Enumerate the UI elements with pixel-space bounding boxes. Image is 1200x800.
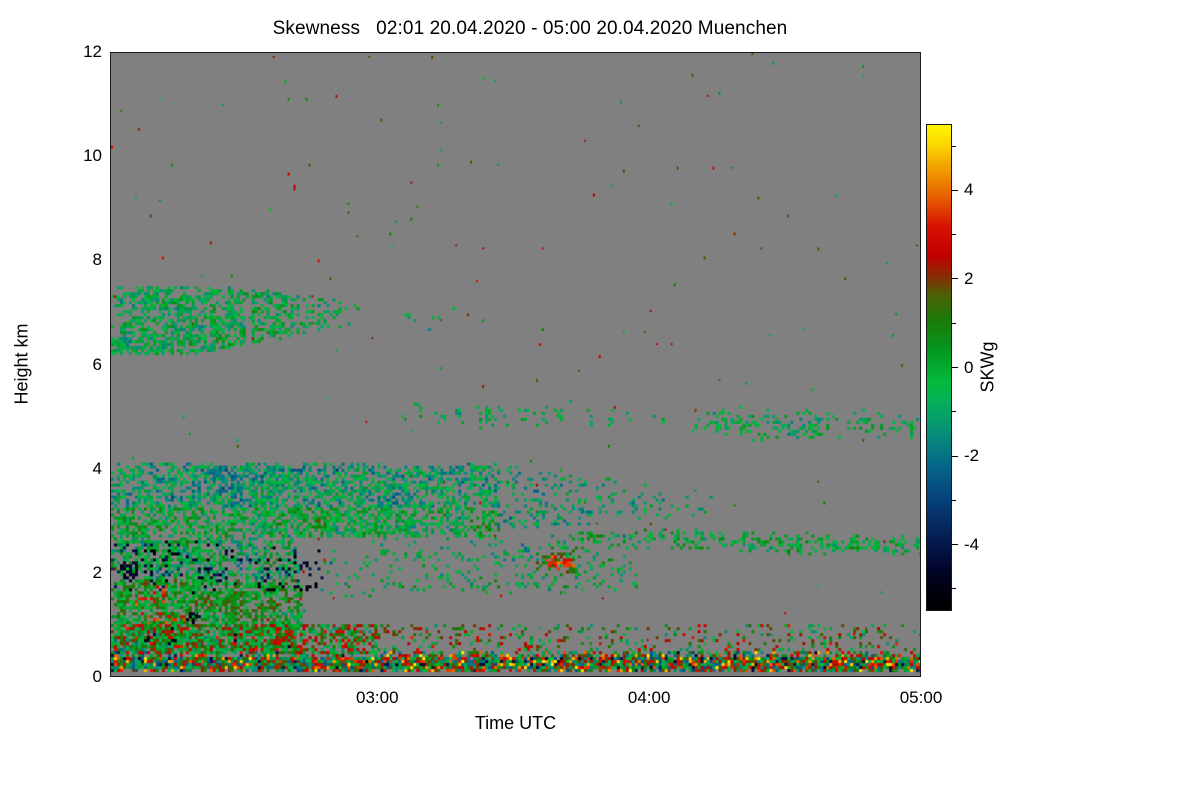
y-tick-label: 4 — [93, 459, 102, 479]
colorbar-tick-label: 2 — [964, 269, 973, 289]
y-tick-minor — [110, 417, 111, 418]
y-tick-minor — [110, 105, 111, 106]
x-axis-ticklabels: 03:0004:0005:00 — [110, 688, 921, 712]
y-tick-label: 2 — [93, 563, 102, 583]
y-tick-minor — [110, 625, 111, 626]
colorbar-tick-minor — [952, 411, 956, 412]
x-tick-label: 03:00 — [356, 688, 399, 708]
y-axis-ticklabels: 024681012 — [60, 52, 102, 677]
y-tick-major — [110, 573, 111, 574]
y-tick-minor — [110, 313, 111, 314]
colorbar-gradient — [926, 124, 952, 611]
y-tick-major — [110, 469, 111, 470]
y-tick-minor — [110, 651, 111, 652]
y-tick-minor — [110, 521, 111, 522]
y-tick-minor — [110, 287, 111, 288]
y-tick-label: 6 — [93, 355, 102, 375]
y-tick-minor — [110, 547, 111, 548]
x-tick-label: 04:00 — [628, 688, 671, 708]
colorbar-tick-minor — [952, 588, 956, 589]
y-tick-minor — [110, 391, 111, 392]
colorbar-tick-minor — [952, 500, 956, 501]
heatmap-plot-area[interactable] — [110, 52, 921, 677]
y-tick-minor — [110, 443, 111, 444]
colorbar-tick-label: -4 — [964, 535, 979, 555]
colorbar-tick — [952, 456, 958, 457]
y-tick-major — [110, 365, 111, 366]
y-tick-minor — [110, 339, 111, 340]
heatmap-pixel-canvas — [111, 53, 920, 676]
x-tick-label: 05:00 — [900, 688, 943, 708]
colorbar-tick-label: 4 — [964, 180, 973, 200]
colorbar-tick — [952, 190, 958, 191]
y-tick-label: 10 — [83, 146, 102, 166]
colorbar-tick-label: -2 — [964, 446, 979, 466]
colorbar-tick — [952, 278, 958, 279]
y-tick-minor — [110, 183, 111, 184]
y-tick-label: 0 — [93, 667, 102, 687]
x-axis-title: Time UTC — [110, 713, 921, 734]
figure-canvas: Skewness 02:01 20.04.2020 - 05:00 20.04.… — [0, 0, 1200, 800]
y-tick-minor — [110, 131, 111, 132]
y-tick-minor — [110, 79, 111, 80]
colorbar[interactable]: -4-2024 — [926, 124, 952, 611]
colorbar-tick-minor — [952, 234, 956, 235]
colorbar-tick-minor — [952, 323, 956, 324]
y-tick-major — [110, 53, 111, 54]
y-tick-label: 8 — [93, 250, 102, 270]
y-tick-minor — [110, 235, 111, 236]
colorbar-tick-minor — [952, 146, 956, 147]
y-tick-major — [110, 261, 111, 262]
colorbar-title: SKWg — [978, 341, 999, 392]
page-title: Skewness 02:01 20.04.2020 - 05:00 20.04.… — [0, 18, 1060, 40]
colorbar-tick — [952, 544, 958, 545]
y-tick-major — [110, 157, 111, 158]
y-tick-minor — [110, 495, 111, 496]
y-tick-label: 12 — [83, 42, 102, 62]
y-axis-title: Height km — [12, 323, 33, 404]
y-tick-minor — [110, 599, 111, 600]
y-tick-minor — [110, 209, 111, 210]
colorbar-tick — [952, 367, 958, 368]
colorbar-tick-label: 0 — [964, 358, 973, 378]
